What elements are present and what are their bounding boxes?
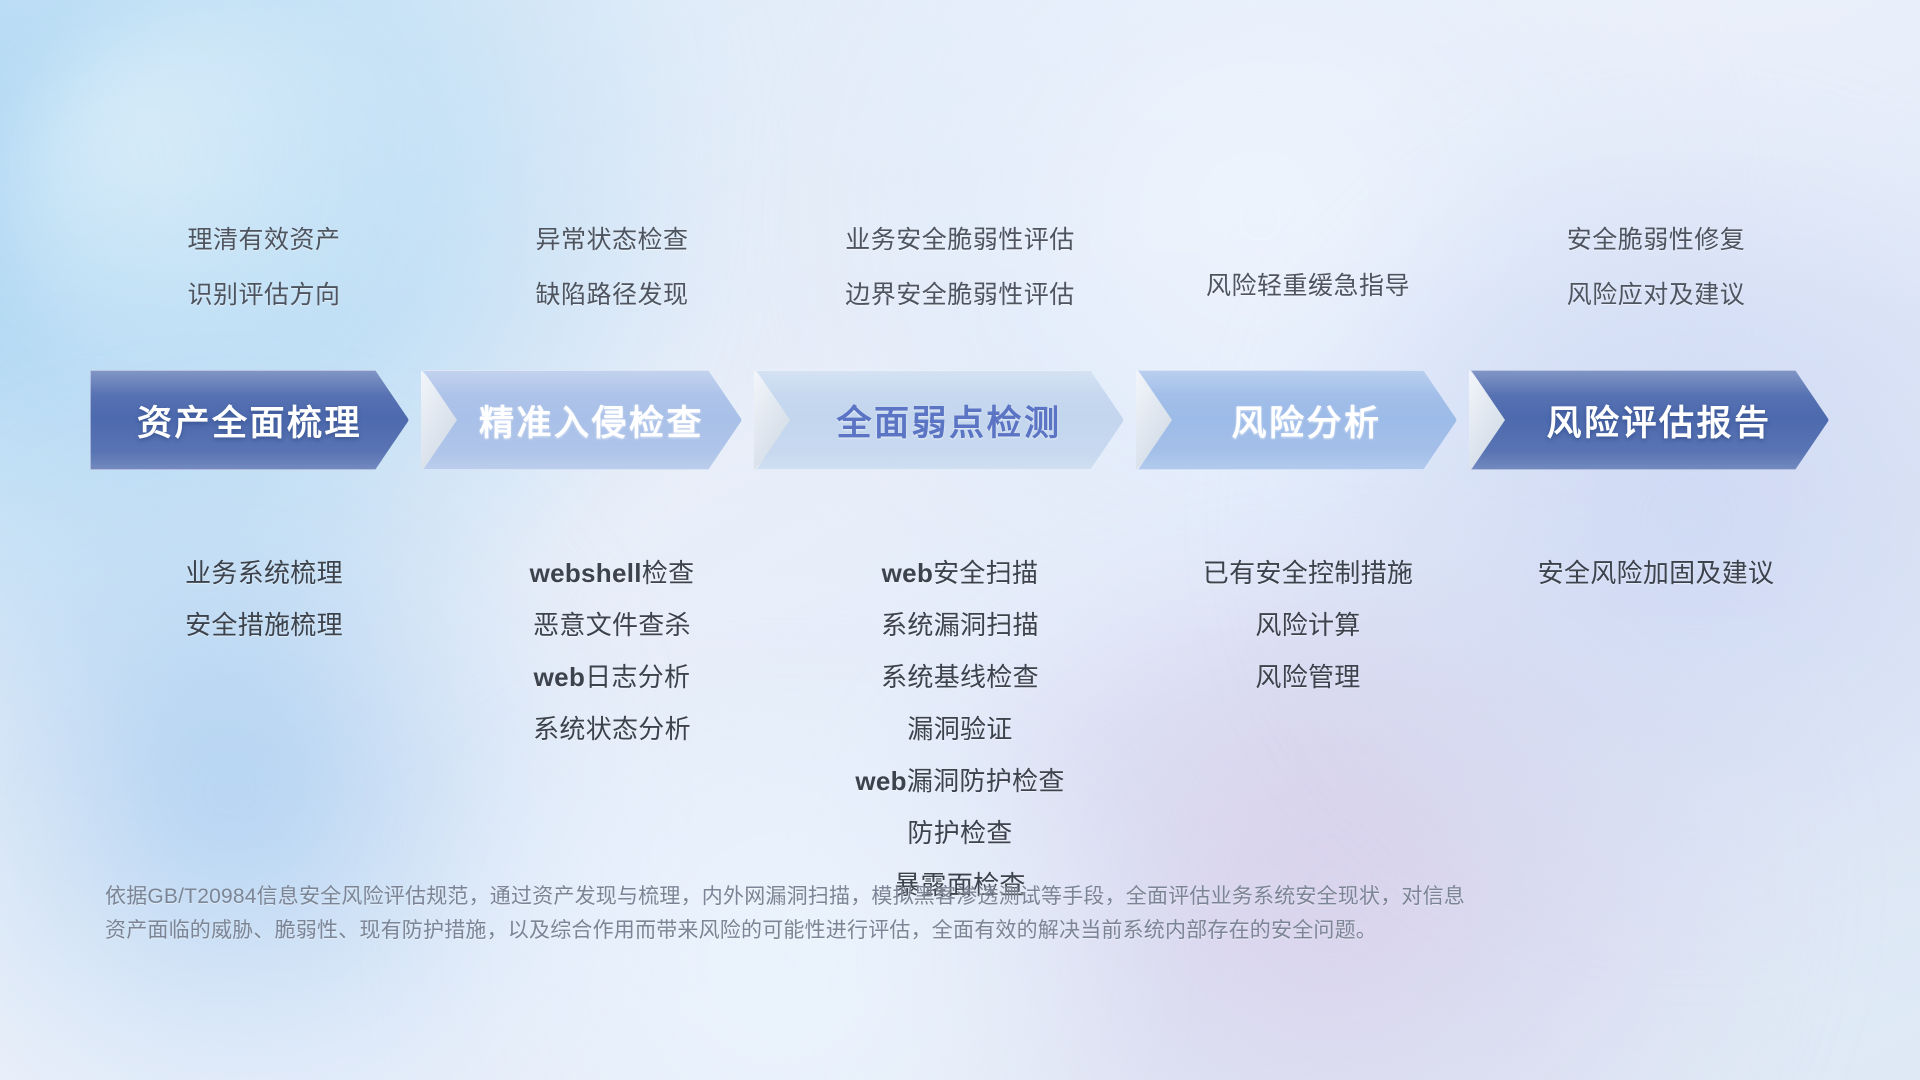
task-item: webshell检查 [530, 560, 695, 586]
top-label: 风险应对及建议 [1567, 283, 1746, 308]
task-item: 系统漏洞扫描 [881, 612, 1039, 638]
task-group-asset-inventory: 业务系统梳理安全措施梳理 [90, 560, 438, 898]
task-item: web日志分析 [534, 664, 691, 690]
task-group-risk-analysis: 已有安全控制措施风险计算风险管理 [1134, 560, 1482, 898]
chevron-stage-assessment-report[interactable]: 风险评估报告 [1471, 370, 1829, 470]
task-item: 风险计算 [1255, 612, 1360, 638]
top-label: 识别评估方向 [187, 283, 340, 308]
top-label-group-asset-inventory: 理清有效资产识别评估方向 [90, 228, 438, 308]
top-label-group-assessment-report: 安全脆弱性修复风险应对及建议 [1482, 228, 1830, 308]
top-label: 安全脆弱性修复 [1567, 228, 1746, 253]
footer-description: 依据GB/T20984信息安全风险评估规范，通过资产发现与梳理，内外网漏洞扫描，… [105, 880, 1665, 948]
task-item: web漏洞防护检查 [855, 768, 1064, 794]
task-item: web安全扫描 [882, 560, 1039, 586]
chevron-stage-asset-inventory[interactable]: 资产全面梳理 [90, 370, 409, 470]
task-group-weakness-detection: web安全扫描系统漏洞扫描系统基线检查漏洞验证web漏洞防护检查防护检查暴露面检… [786, 560, 1134, 898]
chevron-title: 全面弱点检测 [836, 395, 1061, 446]
chevron-stage-weakness-detection[interactable]: 全面弱点检测 [756, 370, 1124, 470]
chevron-title: 风险评估报告 [1546, 395, 1771, 446]
task-item: 业务系统梳理 [185, 560, 343, 586]
process-diagram: 理清有效资产识别评估方向异常状态检查缺陷路径发现业务安全脆弱性评估边界安全脆弱性… [0, 0, 1920, 1080]
top-label: 理清有效资产 [187, 228, 340, 253]
task-group-intrusion-check: webshell检查恶意文件查杀web日志分析系统状态分析 [438, 560, 786, 898]
task-item: 防护检查 [907, 820, 1012, 846]
chevron-stage-risk-analysis[interactable]: 风险分析 [1138, 370, 1457, 470]
top-label: 业务安全脆弱性评估 [845, 228, 1075, 253]
task-item: 安全措施梳理 [185, 612, 343, 638]
chevron-title: 资产全面梳理 [137, 395, 362, 446]
task-group-assessment-report: 安全风险加固及建议 [1482, 560, 1830, 898]
footer-line-1: 依据GB/T20984信息安全风险评估规范，通过资产发现与梳理，内外网漏洞扫描，… [105, 880, 1665, 914]
task-item: 恶意文件查杀 [533, 612, 691, 638]
chevron-title: 风险分析 [1231, 395, 1381, 446]
chevron-title: 精准入侵检查 [479, 395, 704, 446]
top-label-group-risk-analysis: 风险轻重缓急指导 [1134, 228, 1482, 308]
task-item: 风险管理 [1255, 664, 1360, 690]
task-item: 系统基线检查 [881, 664, 1039, 690]
task-item: 已有安全控制措施 [1203, 560, 1413, 586]
footer-line-2: 资产面临的威胁、脆弱性、现有防护措施，以及综合作用而带来风险的可能性进行评估，全… [105, 914, 1665, 948]
top-label-row: 理清有效资产识别评估方向异常状态检查缺陷路径发现业务安全脆弱性评估边界安全脆弱性… [90, 228, 1830, 308]
chevron-band: 资产全面梳理精准入侵检查全面弱点检测风险分析风险评估报告 [90, 370, 1830, 470]
task-list-row: 业务系统梳理安全措施梳理webshell检查恶意文件查杀web日志分析系统状态分… [90, 560, 1830, 898]
top-label-group-intrusion-check: 异常状态检查缺陷路径发现 [438, 228, 786, 308]
task-item: 安全风险加固及建议 [1538, 560, 1775, 586]
top-label: 边界安全脆弱性评估 [845, 283, 1075, 308]
top-label: 风险轻重缓急指导 [1206, 274, 1410, 299]
chevron-stage-intrusion-check[interactable]: 精准入侵检查 [423, 370, 742, 470]
top-label: 异常状态检查 [535, 228, 688, 253]
top-label-group-weakness-detection: 业务安全脆弱性评估边界安全脆弱性评估 [786, 228, 1134, 308]
top-label: 缺陷路径发现 [535, 283, 688, 308]
task-item: 漏洞验证 [907, 716, 1012, 742]
task-item: 系统状态分析 [533, 716, 691, 742]
